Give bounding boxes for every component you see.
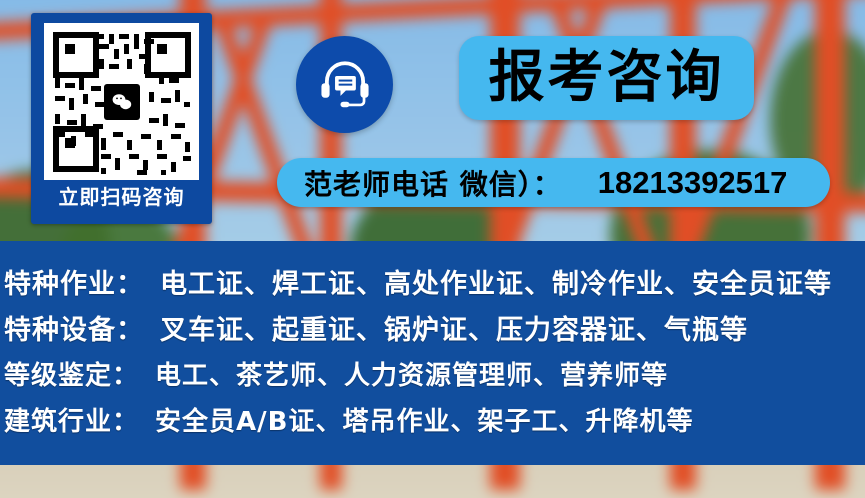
qr-code-image [49, 28, 195, 176]
category-name: 特种设备： [4, 308, 144, 347]
contact-badge[interactable]: 范老师电话 微信）： 18213392517 [277, 158, 830, 207]
category-row-special-equipment: 特种设备： 叉车证、起重证、锅炉证、压力容器证、气瓶等 [4, 304, 865, 350]
certification-categories-panel: 特种作业： 电工证、焊工证、高处作业证、制冷作业、安全员证等 特种设备： 叉车证… [0, 241, 865, 465]
headset-support-icon [296, 36, 393, 133]
advertisement-poster: 立即扫码咨询 报考咨询 范老师电话 微信）： 18213392517 特种作业：… [0, 0, 865, 498]
category-name: 特种作业： [4, 262, 144, 301]
category-name: 等级鉴定： [4, 355, 139, 392]
qr-code-image-frame [44, 23, 199, 180]
qr-finder-top-left [53, 32, 99, 78]
qr-caption-label: 立即扫码咨询 [59, 188, 185, 208]
category-items: 电工、茶艺师、人力资源管理师、营养师等 [155, 355, 668, 392]
category-row-grade-appraisal: 等级鉴定： 电工、茶艺师、人力资源管理师、营养师等 [4, 350, 865, 396]
category-items: 电工证、焊工证、高处作业证、制冷作业、安全员证等 [160, 262, 832, 301]
category-row-construction-industry: 建筑行业： 安全员A/B证、塔吊作业、架子工、升降机等 [4, 396, 865, 442]
contact-label: 范老师电话 微信）： [304, 163, 562, 203]
page-title: 报考咨询 [489, 50, 725, 106]
category-name: 建筑行业： [4, 401, 139, 438]
category-items: 安全员A/B证、塔吊作业、架子工、升降机等 [155, 401, 693, 438]
category-items: 叉车证、起重证、锅炉证、压力容器证、气瓶等 [160, 308, 748, 347]
category-row-special-operations: 特种作业： 电工证、焊工证、高处作业证、制冷作业、安全员证等 [4, 258, 865, 304]
contact-phone-number[interactable]: 18213392517 [598, 165, 788, 201]
qr-code-card[interactable]: 立即扫码咨询 [31, 13, 212, 224]
title-badge: 报考咨询 [459, 36, 754, 120]
wechat-icon [104, 84, 140, 120]
